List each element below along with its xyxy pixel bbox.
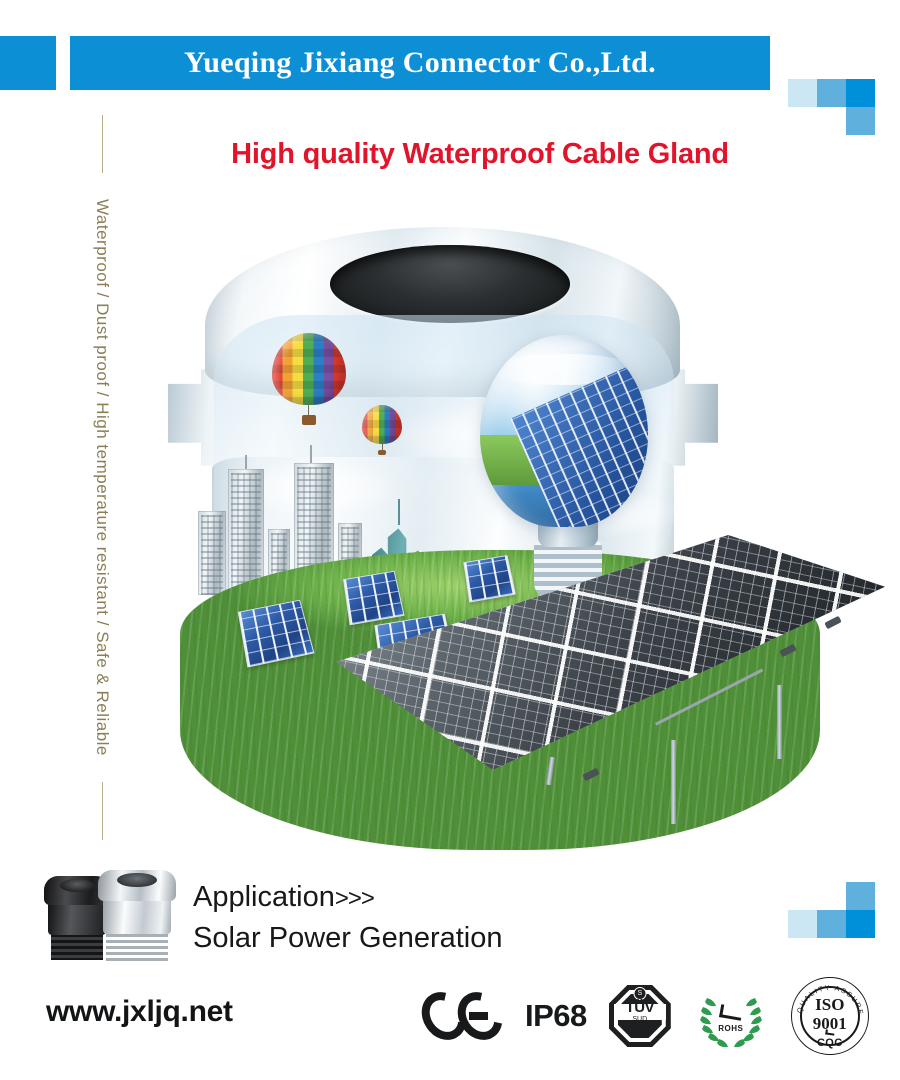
- balloon-envelope: [272, 333, 346, 405]
- company-name: Yueqing Jixiang Connector Co.,Ltd.: [184, 46, 656, 80]
- gland-threads: [106, 931, 168, 962]
- tower-antenna: [245, 455, 247, 469]
- ip68-rating-label: IP68: [525, 998, 587, 1034]
- tuv-sublabel: SUD: [632, 1016, 647, 1023]
- strip-rule-top: [102, 115, 103, 173]
- array-panel-surface: [325, 535, 885, 770]
- deco-square-light: [788, 79, 817, 107]
- gland-bore-opening: [330, 245, 570, 323]
- iso-text-block: ISO 9001: [791, 996, 869, 1034]
- header-bar: Yueqing Jixiang Connector Co.,Ltd.: [70, 36, 770, 90]
- chrome-cable-gland: [98, 870, 176, 962]
- application-value: Solar Power Generation: [193, 920, 503, 956]
- balloon-basket: [302, 415, 317, 425]
- deco-square-mid: [817, 910, 846, 938]
- building-spire: [398, 499, 400, 525]
- gland-threads: [51, 931, 104, 960]
- deco-square-mid-upper: [846, 882, 875, 910]
- tuv-label: TÜV: [626, 1000, 655, 1015]
- deco-square-dark: [846, 79, 875, 107]
- light-bulb-glass: [480, 335, 648, 527]
- cqc-label: CQC: [791, 1037, 869, 1049]
- ce-mark-icon: [425, 991, 503, 1041]
- rohs-icon: ROHS: [693, 984, 769, 1048]
- page-title: High quality Waterproof Cable Gland: [0, 138, 900, 171]
- deco-square-mid-lower: [846, 107, 875, 135]
- header-accent-block: [0, 36, 56, 90]
- decoration-bottom-right: [788, 882, 878, 942]
- hero-product-image: [150, 205, 870, 845]
- tuv-label-band: TÜV SUD: [614, 1004, 666, 1020]
- iso-line-1: ISO: [815, 995, 844, 1014]
- gland-opening: [60, 879, 94, 892]
- website-url[interactable]: www.jxljq.net: [46, 995, 233, 1029]
- application-label: Application: [193, 881, 335, 913]
- deco-square-dark: [846, 910, 875, 938]
- array-clamp: [824, 616, 841, 630]
- hot-air-balloon-large: [272, 333, 346, 425]
- decoration-top-right: [788, 79, 878, 139]
- skyscraper: [228, 469, 264, 595]
- application-label-line: Application>>>: [193, 880, 503, 914]
- certification-badges: IP68 S TÜV SUD: [425, 968, 870, 1064]
- balloon-envelope: [362, 405, 402, 444]
- cable-gland-product-photo: [40, 866, 180, 962]
- deco-square-light: [788, 910, 817, 938]
- tuv-sud-icon: S TÜV SUD: [609, 985, 671, 1047]
- feature-list-vertical: Waterproof / Dust proof / High temperatu…: [92, 173, 112, 782]
- array-clamp: [779, 644, 796, 658]
- array-support-leg: [777, 685, 782, 759]
- skyscraper: [198, 511, 226, 595]
- iso-9001-cqc-icon: QUALITY ASSURED FIRM ISO 9001 CQC: [791, 977, 869, 1055]
- deco-square-mid: [817, 79, 846, 107]
- array-clamp: [582, 768, 599, 782]
- product-banner: Yueqing Jixiang Connector Co.,Ltd. High …: [0, 0, 900, 1080]
- array-support-leg: [546, 757, 555, 785]
- solar-panel-array: [325, 535, 885, 835]
- gland-body: [103, 898, 172, 935]
- iso-checkmark-icon: [825, 1029, 835, 1035]
- application-chevrons: >>>: [335, 885, 374, 912]
- strip-rule-bottom: [102, 782, 103, 840]
- rohs-label: ROHS: [693, 1024, 769, 1033]
- tuv-seal-bubble: S: [633, 987, 646, 1000]
- ce-e-bar: [469, 1012, 488, 1020]
- feature-strip: Waterproof / Dust proof / High temperatu…: [85, 115, 119, 840]
- balloon-rope: [308, 405, 309, 415]
- tower-antenna: [310, 445, 312, 463]
- application-text-block: Application>>> Solar Power Generation: [193, 880, 503, 956]
- array-support-leg: [671, 740, 676, 824]
